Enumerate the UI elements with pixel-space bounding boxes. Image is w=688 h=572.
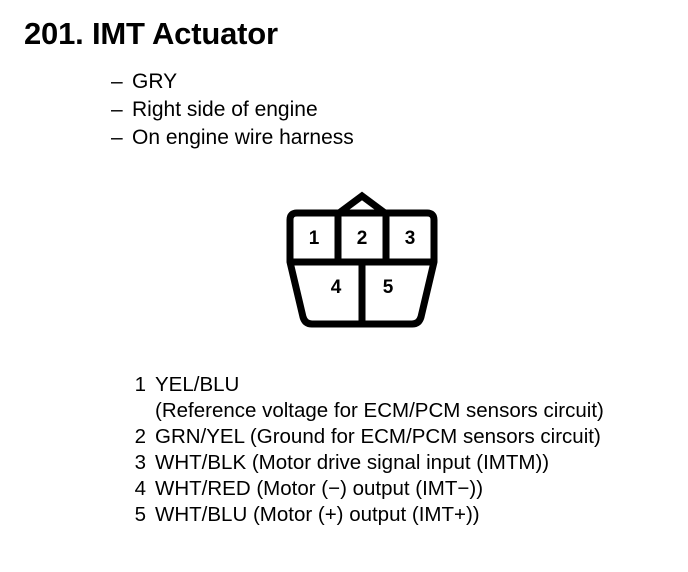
dash-bullet-icon: – (111, 96, 132, 124)
attribute-list: – GRY – Right side of engine – On engine… (111, 68, 354, 152)
pin-legend-text: WHT/BLK (Motor drive signal input (IMTM)… (155, 450, 549, 476)
attribute-item-harness: – On engine wire harness (111, 124, 354, 152)
pin-legend-row: 3 WHT/BLK (Motor drive signal input (IMT… (128, 450, 604, 476)
attribute-item-location: – Right side of engine (111, 96, 354, 124)
page-title: 201. IMT Actuator (24, 18, 278, 49)
pin-legend-line-1: YEL/BLU (155, 372, 604, 398)
pin-legend-text: GRN/YEL (Ground for ECM/PCM sensors circ… (155, 424, 601, 450)
pin-legend-index: 1 (128, 372, 146, 398)
pin-legend-row: 1 YEL/BLU (Reference voltage for ECM/PCM… (128, 372, 604, 424)
connector-diagram: 1 2 3 4 5 (276, 186, 456, 331)
attribute-item-label: On engine wire harness (132, 124, 354, 152)
pin-legend-index: 3 (128, 450, 146, 476)
attribute-item-color: – GRY (111, 68, 354, 96)
attribute-item-label: GRY (132, 68, 177, 96)
attribute-item-label: Right side of engine (132, 96, 318, 124)
connector-pin-label-4: 4 (331, 277, 342, 298)
dash-bullet-icon: – (111, 68, 132, 96)
pin-legend-row: 4 WHT/RED (Motor (−) output (IMT−)) (128, 476, 604, 502)
pin-legend-index: 2 (128, 424, 146, 450)
pin-legend-text: WHT/BLU (Motor (+) output (IMT+)) (155, 502, 480, 528)
pin-legend-index: 5 (128, 502, 146, 528)
pin-legend-row: 2 GRN/YEL (Ground for ECM/PCM sensors ci… (128, 424, 604, 450)
connector-pin-label-2: 2 (357, 228, 368, 249)
pin-legend-index: 4 (128, 476, 146, 502)
connector-svg: 1 2 3 4 5 (276, 186, 456, 331)
dash-bullet-icon: – (111, 124, 132, 152)
pin-legend-line-2: (Reference voltage for ECM/PCM sensors c… (155, 398, 604, 424)
pin-legend-text: YEL/BLU (Reference voltage for ECM/PCM s… (155, 372, 604, 424)
connector-pin-label-1: 1 (309, 228, 320, 249)
connector-pin-label-5: 5 (383, 277, 394, 298)
pin-legend-text: WHT/RED (Motor (−) output (IMT−)) (155, 476, 483, 502)
pin-legend-row: 5 WHT/BLU (Motor (+) output (IMT+)) (128, 502, 604, 528)
connector-pin-label-3: 3 (405, 228, 416, 249)
pin-legend-list: 1 YEL/BLU (Reference voltage for ECM/PCM… (128, 372, 604, 528)
